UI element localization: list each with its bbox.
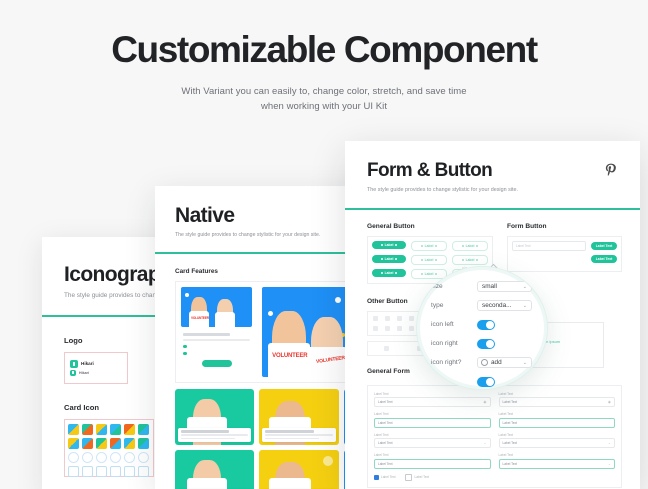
page-subtitle-line-1: With Variant you can easily to, change c… [181,86,466,97]
form-button-row: Label Text Label Text [512,241,617,251]
chevron-down-icon[interactable]: ⌄ [608,462,611,466]
outline-icon[interactable] [124,466,135,477]
canvas: Customizable Component With Variant you … [0,0,648,489]
card-icon-grid[interactable] [64,419,154,477]
photo-card-caption [262,428,335,442]
colorful-icon[interactable] [124,424,135,435]
chevron-icon [476,245,478,247]
icon-row [68,424,150,435]
checkbox-item[interactable]: Label Text [374,475,395,480]
form-footer: Label Text Label Text [374,474,615,481]
outline-icon[interactable] [82,452,93,463]
colorful-icon[interactable] [138,424,149,435]
icon-button[interactable] [373,326,378,331]
hikari-logo-icon [70,370,76,376]
chevron-down-icon: ⌄ [523,284,527,290]
icon-button[interactable] [384,346,389,351]
variant-row-size: size small ⌄ [431,277,535,296]
colorful-icon[interactable] [138,438,149,449]
extra-toggle[interactable] [477,377,495,387]
variant-properties-panel: size small ⌄ type seconda... ⌄ icon left… [417,267,547,389]
plus-icon [421,259,423,261]
photo-card[interactable] [175,389,254,445]
variant-label: icon left [431,321,477,328]
colorful-icon[interactable] [124,438,135,449]
variant-row-icon-left: icon left [431,315,535,334]
chevron-icon [435,259,437,261]
plus-icon [462,245,464,247]
plus-icon [421,245,423,247]
variant-row-type: type seconda... ⌄ [431,296,535,315]
outline-icon[interactable] [68,452,79,463]
chevron-icon [395,272,397,274]
feature-photo: VOLUNTEER [181,287,252,327]
divider [345,208,640,210]
form-button-subtitle: The style guide provides to change styli… [367,187,640,193]
feature-title-line [183,333,230,336]
logo-item[interactable]: Hikari [70,370,122,376]
plus-icon [381,244,383,246]
chevron-down-icon: ⌄ [523,360,527,366]
feature-cta-button[interactable] [202,360,232,367]
colorful-icon[interactable] [82,424,93,435]
variant-label: size [431,283,477,290]
checkbox-icon [405,474,412,481]
photo-card[interactable] [175,450,254,489]
chevron-icon [395,244,397,246]
outline-icon[interactable] [124,452,135,463]
button-row: Label Label Label [372,241,488,251]
variant-row-extra [431,372,535,390]
outline-icon[interactable] [82,466,93,477]
page-subtitle: With Variant you can easily to, change c… [0,84,648,114]
form-field[interactable]: Label Text Label Text◉ [374,392,491,408]
magnifier-lens[interactable]: size small ⌄ type seconda... ⌄ icon left… [416,266,548,390]
form-field[interactable]: Label Text Label Text [374,453,491,469]
form-field[interactable]: Label Text Label Text◉ [499,392,616,408]
primary-button[interactable]: Label [372,255,406,263]
check-icon [183,352,187,356]
form-field[interactable]: Label Text Label Text [374,412,491,428]
form-grid: Label Text Label Text◉ Label Text Label … [374,392,615,469]
icon-row [68,452,150,463]
icon-left-toggle[interactable] [477,320,495,330]
photo-card[interactable] [259,389,338,445]
radio-icon[interactable] [481,359,488,366]
form-field[interactable]: Label Text Label Text⌄ [499,453,616,469]
outline-icon[interactable] [68,466,79,477]
variant-label: icon right [431,340,477,347]
chevron-icon [395,258,397,260]
logo-name: Hikari [81,361,94,366]
form-field[interactable]: Label Text Label Text⌄ [374,433,491,449]
colorful-icon[interactable] [68,424,79,435]
icon-button[interactable] [409,326,414,331]
feature-text-line [183,339,250,341]
submit-button[interactable]: Label Text [591,255,617,263]
volunteer-photo: VOLUNTEER VOLUNTEER [262,287,350,377]
variant-row-icon-right-2: icon right? add ⌄ [431,353,535,372]
icon-button[interactable] [373,316,378,321]
form-field[interactable]: Label Text Label Text⌄ [499,433,616,449]
type-select[interactable]: seconda... ⌄ [477,300,532,311]
hikari-logo-icon [70,360,78,368]
form-button-title: Form & Button [367,160,640,182]
outline-icon[interactable] [138,452,149,463]
colorful-icon[interactable] [110,438,121,449]
chevron-icon [435,245,437,247]
colorful-icon[interactable] [82,438,93,449]
colorful-icon[interactable] [110,424,121,435]
colorful-icon[interactable] [68,438,79,449]
icon-row [68,438,150,449]
size-select[interactable]: small ⌄ [477,281,532,292]
general-button-label: General Button [367,223,493,230]
form-button-label: Form Button [507,223,622,230]
feature-card-small[interactable]: VOLUNTEER [176,282,257,382]
outline-icon[interactable] [110,452,121,463]
checkbox-item[interactable]: Label Text [405,474,428,481]
variant-label: type [431,302,477,309]
colorful-icon[interactable] [96,438,107,449]
eye-icon[interactable]: ◉ [483,400,486,404]
variant-label: icon right? [431,359,477,366]
outline-icon[interactable] [96,466,107,477]
search-input[interactable]: Label Text [512,241,586,251]
logo-name: Hikari [79,371,89,375]
hero-header: Customizable Component With Variant you … [0,28,648,114]
eye-icon[interactable]: ◉ [608,400,611,404]
primary-button[interactable]: Label [372,269,406,277]
page-subtitle-line-2: when working with your UI Kit [261,101,387,112]
icon-button[interactable] [385,316,390,321]
feature-bullet [183,351,250,355]
outline-icon[interactable] [110,466,121,477]
icon-button[interactable] [397,316,402,321]
logo-item[interactable]: Hikari [70,360,122,368]
secondary-button[interactable]: Label [411,241,447,251]
form-button-row: Label Text [512,255,617,263]
feature-hero-photo: VOLUNTEER VOLUNTEER [257,282,355,382]
add-select[interactable]: add ⌄ [477,357,532,368]
icon-right-toggle[interactable] [477,339,495,349]
photo-card-caption [178,428,251,442]
outline-icon[interactable] [138,466,149,477]
feature-bullet [183,344,250,348]
pinterest-p-icon [604,163,618,179]
variant-row-icon-right: icon right [431,334,535,353]
plus-icon [381,258,383,260]
secondary-button[interactable]: Label [411,255,447,265]
general-form-specimen[interactable]: Label Text Label Text◉ Label Text Label … [367,385,622,488]
chevron-down-icon[interactable]: ⌄ [483,441,486,445]
icon-button[interactable] [385,326,390,331]
primary-button[interactable]: Label [372,241,406,249]
check-icon [183,345,187,349]
chevron-down-icon: ⌄ [523,303,527,309]
plus-icon [462,259,464,261]
chevron-icon [476,259,478,261]
submit-button[interactable]: Label Text [591,242,617,250]
chevron-down-icon[interactable]: ⌄ [608,441,611,445]
icon-button[interactable] [397,326,402,331]
tertiary-button[interactable]: Label [452,241,488,251]
tertiary-button[interactable]: Label [452,255,488,265]
form-field[interactable]: Label Text Label Text [499,412,616,428]
logo-specimen-box[interactable]: Hikari Hikari [64,352,128,384]
page-title: Customizable Component [0,28,648,72]
checkbox-icon [374,475,379,480]
outline-icon[interactable] [96,452,107,463]
icon-button[interactable] [409,316,414,321]
button-row: Label Label Label [372,255,488,265]
colorful-icon[interactable] [96,424,107,435]
photo-card[interactable] [259,450,338,489]
plus-icon [381,272,383,274]
icon-row [68,466,150,477]
